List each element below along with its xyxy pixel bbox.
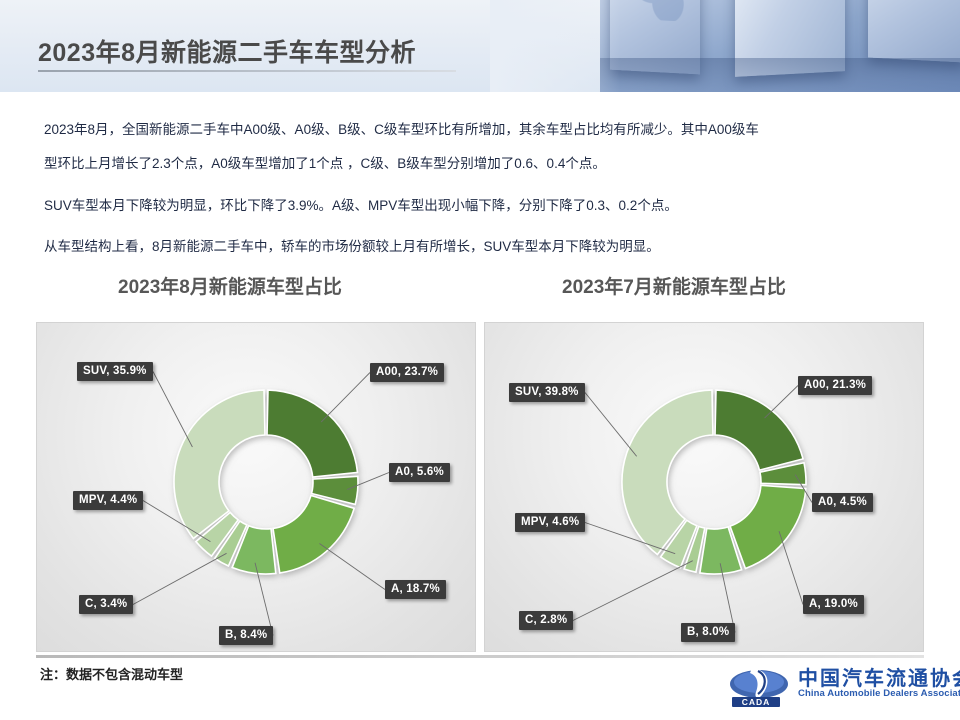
data-label-a0: A0, 4.5% bbox=[812, 493, 873, 512]
cada-logo-icon: CADA bbox=[728, 664, 790, 708]
donut-slice-a[interactable] bbox=[273, 495, 354, 573]
header-art-shadow bbox=[600, 58, 960, 92]
data-label-a: A, 19.0% bbox=[803, 595, 864, 614]
footer-divider bbox=[36, 655, 924, 658]
data-label-c: C, 3.4% bbox=[79, 595, 133, 614]
donut-chart-july: A00, 21.3%A0, 4.5%A, 19.0%B, 8.0%C, 2.8%… bbox=[484, 322, 924, 652]
leader-line bbox=[133, 553, 227, 604]
data-label-b: B, 8.0% bbox=[681, 623, 735, 642]
data-label-suv: SUV, 39.8% bbox=[509, 383, 585, 402]
title-underline bbox=[38, 70, 456, 72]
body-paragraph-2: 型环比上月增长了2.3个点，A0级车型增加了1个点 ，C级、B级车型分别增加了0… bbox=[44, 154, 924, 174]
chart-title-august: 2023年8月新能源车型占比 bbox=[118, 272, 342, 299]
svg-text:CADA: CADA bbox=[742, 697, 771, 707]
data-label-a00: A00, 21.3% bbox=[798, 376, 872, 395]
leader-line bbox=[779, 531, 803, 604]
donut-slice-a00[interactable] bbox=[267, 390, 357, 477]
donut-slice-a[interactable] bbox=[730, 485, 806, 568]
logo-text-en: China Automobile Dealers Association bbox=[798, 688, 960, 699]
data-label-c: C, 2.8% bbox=[519, 611, 573, 630]
donut-slice-a00[interactable] bbox=[715, 390, 803, 470]
world-map-icon bbox=[632, 0, 690, 22]
logo-text-cn: 中国汽车流通协会 bbox=[798, 662, 960, 691]
donut-slice-suv[interactable] bbox=[174, 390, 265, 538]
body-paragraph-3: SUV车型本月下降较为明显，环比下降了3.9%。A级、MPV车型出现小幅下降，分… bbox=[44, 196, 924, 216]
leader-line bbox=[153, 372, 192, 447]
header-art-fade bbox=[490, 0, 620, 92]
body-paragraph-1: 2023年8月，全国新能源二手车中A00级、A0级、B级、C级车型环比有所增加，… bbox=[44, 120, 924, 140]
header-decorative-image bbox=[600, 0, 960, 92]
data-label-a0: A0, 5.6% bbox=[389, 463, 450, 482]
data-label-a: A, 18.7% bbox=[385, 580, 446, 599]
data-label-mpv: MPV, 4.6% bbox=[515, 513, 585, 532]
page-title: 2023年8月新能源二手车车型分析 bbox=[38, 33, 416, 69]
leader-line bbox=[765, 386, 798, 419]
data-label-b: B, 8.4% bbox=[219, 626, 273, 645]
decorative-cube-icon bbox=[868, 0, 960, 63]
donut-chart-august: A00, 23.7%A0, 5.6%A, 18.7%B, 8.4%C, 3.4%… bbox=[36, 322, 476, 652]
leader-line bbox=[585, 393, 637, 457]
slide-header: 2023年8月新能源二手车车型分析 bbox=[0, 0, 960, 92]
body-paragraph-4: 从车型结构上看，8月新能源二手车中，轿车的市场份额较上月有所增长，SUV车型本月… bbox=[44, 237, 924, 257]
organization-logo: CADA 中国汽车流通协会 China Automobile Dealers A… bbox=[728, 660, 938, 712]
data-label-a00: A00, 23.7% bbox=[370, 363, 444, 382]
data-label-mpv: MPV, 4.4% bbox=[73, 491, 143, 510]
slide-root: 2023年8月新能源二手车车型分析 2023年8月，全国新能源二手车中A00级、… bbox=[0, 0, 960, 720]
chart-title-july: 2023年7月新能源车型占比 bbox=[562, 272, 786, 299]
leader-line bbox=[321, 373, 370, 423]
data-label-suv: SUV, 35.9% bbox=[77, 362, 153, 381]
footnote: 注：数据不包含混动车型 bbox=[40, 664, 183, 683]
leader-line bbox=[573, 561, 693, 621]
leader-line bbox=[319, 544, 385, 590]
